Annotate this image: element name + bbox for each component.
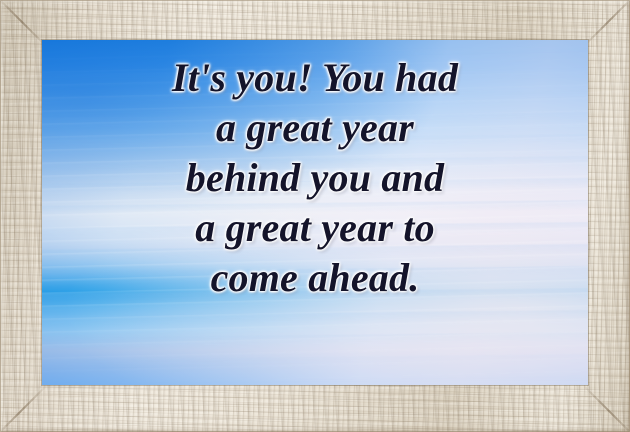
quote-line-5: come ahead.	[42, 253, 588, 303]
quote-line-1: It's you! You had	[42, 53, 588, 103]
quote-line-2: a great year	[42, 103, 588, 153]
quote-text-block: It's you! You had a great year behind yo…	[42, 53, 588, 303]
quote-poster: It's you! You had a great year behind yo…	[0, 0, 630, 432]
sky-photo: It's you! You had a great year behind yo…	[42, 40, 588, 385]
quote-line-4: a great year to	[42, 203, 588, 253]
quote-line-3: behind you and	[42, 153, 588, 203]
